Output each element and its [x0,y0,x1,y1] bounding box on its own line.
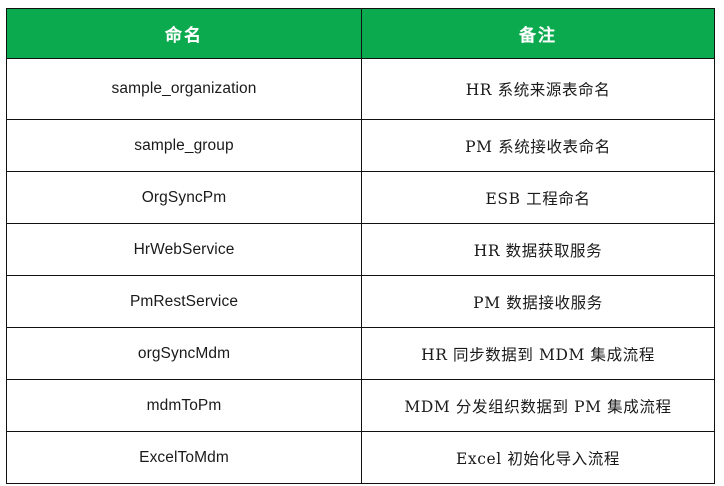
cell-name: sample_group [7,120,362,172]
naming-convention-table: 命名 备注 sample_organization HR 系统来源表命名 sam… [6,8,715,484]
cell-name: OrgSyncPm [7,172,362,224]
cell-remark: MDM 分发组织数据到 PM 集成流程 [362,380,715,432]
cell-remark: HR 数据获取服务 [362,224,715,276]
cell-remark: Excel 初始化导入流程 [362,432,715,484]
page-root: 命名 备注 sample_organization HR 系统来源表命名 sam… [0,0,724,486]
naming-table-container: 命名 备注 sample_organization HR 系统来源表命名 sam… [6,8,714,476]
column-header-name: 命名 [7,9,362,59]
table-row: HrWebService HR 数据获取服务 [7,224,715,276]
table-row: OrgSyncPm ESB 工程命名 [7,172,715,224]
table-row: mdmToPm MDM 分发组织数据到 PM 集成流程 [7,380,715,432]
cell-name: mdmToPm [7,380,362,432]
table-row: ExcelToMdm Excel 初始化导入流程 [7,432,715,484]
cell-name: orgSyncMdm [7,328,362,380]
cell-name: HrWebService [7,224,362,276]
cell-name: ExcelToMdm [7,432,362,484]
table-row: orgSyncMdm HR 同步数据到 MDM 集成流程 [7,328,715,380]
table-header-row: 命名 备注 [7,9,715,59]
table-header: 命名 备注 [7,9,715,59]
cell-remark: HR 系统来源表命名 [362,59,715,120]
column-header-remark: 备注 [362,9,715,59]
table-body: sample_organization HR 系统来源表命名 sample_gr… [7,59,715,484]
table-row: sample_group PM 系统接收表命名 [7,120,715,172]
table-row: PmRestService PM 数据接收服务 [7,276,715,328]
cell-remark: HR 同步数据到 MDM 集成流程 [362,328,715,380]
cell-name: PmRestService [7,276,362,328]
cell-remark: PM 系统接收表命名 [362,120,715,172]
cell-remark: ESB 工程命名 [362,172,715,224]
cell-remark: PM 数据接收服务 [362,276,715,328]
table-row: sample_organization HR 系统来源表命名 [7,59,715,120]
cell-name: sample_organization [7,59,362,120]
